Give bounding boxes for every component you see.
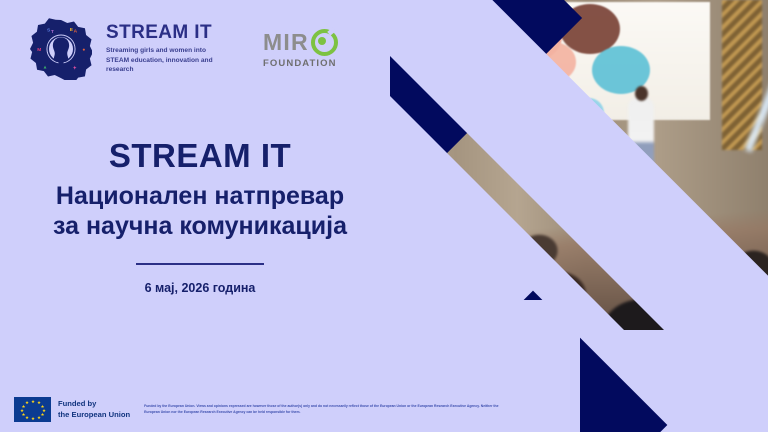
page-title: STREAM IT xyxy=(0,138,400,174)
header-logos: S T E A M ● ▲ ✦ STREAM IT Streaming girl… xyxy=(30,18,338,80)
stream-it-gear-logo: S T E A M ● ▲ ✦ xyxy=(30,18,92,80)
svg-text:✦: ✦ xyxy=(73,65,77,71)
brand-tagline: Streaming girls and women into STEAM edu… xyxy=(106,46,221,75)
svg-text:A: A xyxy=(74,29,78,35)
svg-text:M: M xyxy=(37,47,41,53)
eu-label-line1: Funded by xyxy=(58,399,130,409)
photo-zone xyxy=(390,0,768,432)
page-subtitle-line2: за научна комуникација xyxy=(0,212,400,242)
page-subtitle-line1: Национален натпревар xyxy=(0,182,400,212)
european-union-flag: ★ ★ ★ ★ ★ ★ ★ ★ ★ ★ ★ ★ xyxy=(14,397,51,422)
miro-ring-icon xyxy=(311,29,338,56)
svg-text:T: T xyxy=(51,29,54,35)
title-divider xyxy=(136,263,264,265)
miro-foundation-logo: MIR FOUNDATION xyxy=(263,29,338,69)
footer: ★ ★ ★ ★ ★ ★ ★ ★ ★ ★ ★ ★ Funded by the Eu… xyxy=(0,397,768,422)
eu-disclaimer-text: Funded by the European Union. Views and … xyxy=(144,404,504,416)
speaker-head xyxy=(635,86,648,101)
main-text-block: STREAM IT Национален натпревар за научна… xyxy=(0,138,400,295)
miro-wordmark: MIR xyxy=(263,31,309,54)
svg-text:▲: ▲ xyxy=(43,65,48,70)
eu-label-line2: the European Union xyxy=(58,410,130,420)
poster-canvas: S T E A M ● ▲ ✦ STREAM IT Streaming girl… xyxy=(0,0,768,432)
miro-subtitle: FOUNDATION xyxy=(263,58,337,69)
svg-text:●: ● xyxy=(82,48,85,53)
miro-wordmark-row: MIR xyxy=(263,29,338,56)
eu-funding-label: Funded by the European Union xyxy=(58,399,130,420)
stream-it-brand-text: STREAM IT Streaming girls and women into… xyxy=(106,23,221,75)
eu-funding-badge: ★ ★ ★ ★ ★ ★ ★ ★ ★ ★ ★ ★ Funded by the Eu… xyxy=(14,397,130,422)
event-date: 6 мај, 2026 година xyxy=(0,281,400,295)
brand-title: STREAM IT xyxy=(106,23,221,42)
